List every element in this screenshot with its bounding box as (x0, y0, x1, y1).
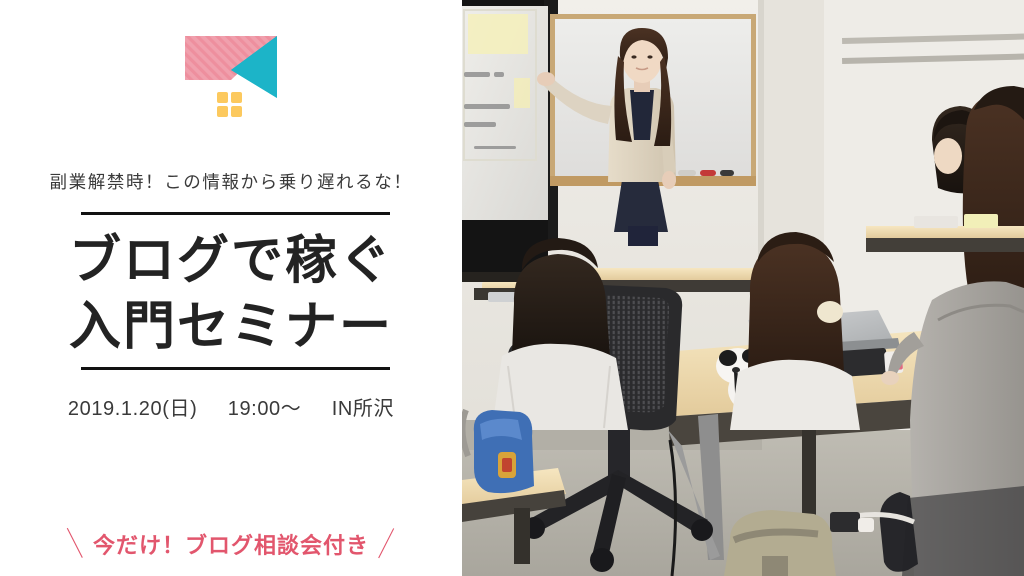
divider-bottom (81, 367, 390, 370)
event-place: IN所沢 (332, 398, 394, 420)
event-time: 19:00〜 (228, 398, 302, 420)
seminar-flyer: 副業解禁時！この情報から乗り遅れるな！ ブログで稼ぐ 入門セミナー 2019.1… (0, 0, 1024, 576)
event-details: 2019.1.20(日) 19:00〜 IN所沢 (0, 392, 462, 421)
tagline: 副業解禁時！この情報から乗り遅れるな！ (0, 169, 462, 194)
divider-top (81, 212, 390, 215)
slash-left-icon: ＼ (53, 519, 98, 565)
left-text-panel: 副業解禁時！この情報から乗り遅れるな！ ブログで稼ぐ 入門セミナー 2019.1… (0, 0, 462, 576)
page-title: ブログで稼ぐ 入門セミナー (0, 228, 462, 360)
title-line-1: ブログで稼ぐ (0, 228, 462, 294)
slash-right-icon: ／ (364, 519, 409, 565)
house-roof-logo (181, 32, 281, 120)
bonus-banner: ＼今だけ！ブログ相談会付き／ (0, 524, 462, 561)
bonus-label: 今だけ！ブログ相談会付き (93, 534, 369, 559)
seminar-room-photo (462, 0, 1024, 576)
title-line-2: 入門セミナー (0, 294, 462, 360)
event-date: 2019.1.20(日) (68, 398, 198, 420)
